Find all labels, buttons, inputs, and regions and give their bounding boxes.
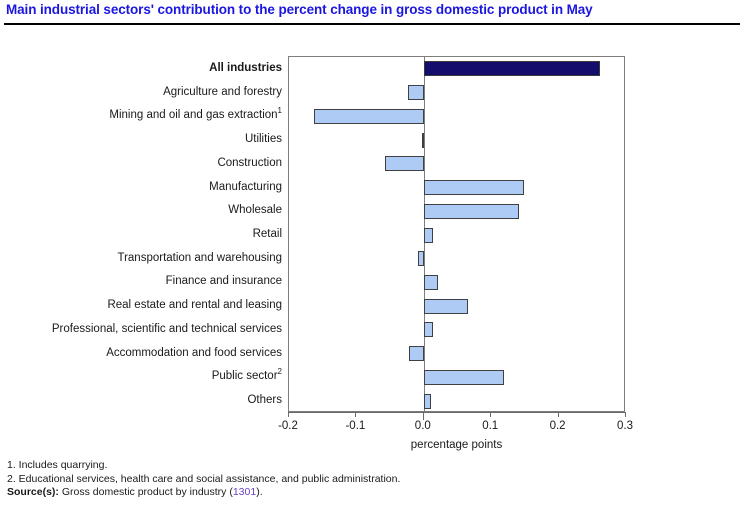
bar (408, 85, 424, 100)
x-axis-tick (558, 412, 559, 417)
source-label: Source(s): (7, 486, 59, 498)
x-axis-tick (355, 412, 356, 417)
source-suffix: ). (256, 486, 262, 498)
x-axis-line (288, 412, 625, 413)
category-label: Accommodation and food services (0, 347, 282, 359)
category-axis-labels: All industriesAgriculture and forestryMi… (0, 56, 282, 412)
category-label: Agriculture and forestry (0, 86, 282, 98)
bar (424, 61, 601, 76)
category-label: Professional, scientific and technical s… (0, 323, 282, 335)
x-axis-tick-label: 0.0 (401, 420, 445, 432)
x-axis-tick-label: 0.1 (468, 420, 512, 432)
category-label: Real estate and rental and leasing (0, 299, 282, 311)
bar (424, 370, 504, 385)
chart-figure: All industriesAgriculture and forestryMi… (0, 30, 744, 450)
x-axis-tick (625, 412, 626, 417)
bar (424, 275, 438, 290)
footnote-1: 1. Includes quarrying. (7, 459, 607, 473)
category-label: Wholesale (0, 204, 282, 216)
category-label: Construction (0, 157, 282, 169)
bar (424, 228, 433, 243)
bar (424, 394, 431, 409)
bar (424, 204, 519, 219)
category-label: All industries (0, 62, 282, 74)
bar (424, 299, 468, 314)
source-line: Source(s): Gross domestic product by ind… (7, 486, 607, 500)
title-divider (4, 23, 740, 25)
x-axis-tick (423, 412, 424, 420)
page-title: Main industrial sectors' contribution to… (6, 2, 738, 17)
x-axis-tick-label: 0.2 (536, 420, 580, 432)
x-axis-tick (288, 412, 289, 417)
footnotes: 1. Includes quarrying. 2. Educational se… (7, 459, 607, 500)
source-link[interactable]: 1301 (233, 486, 256, 498)
category-label: Transportation and warehousing (0, 252, 282, 264)
category-label: Public sector2 (0, 370, 282, 382)
category-label: Utilities (0, 133, 282, 145)
category-label: Others (0, 394, 282, 406)
bar (422, 133, 424, 148)
category-label: Mining and oil and gas extraction1 (0, 109, 282, 121)
category-label: Retail (0, 228, 282, 240)
bar (424, 180, 524, 195)
plot-area (288, 56, 625, 412)
footnote-2: 2. Educational services, health care and… (7, 473, 607, 487)
bar (418, 251, 424, 266)
x-axis-tick (490, 412, 491, 417)
bar (314, 109, 424, 124)
x-axis-tick-label: 0.3 (603, 420, 647, 432)
x-axis-tick-label: -0.1 (333, 420, 377, 432)
bar (424, 322, 433, 337)
bar (385, 156, 423, 171)
category-label: Manufacturing (0, 181, 282, 193)
category-label: Finance and insurance (0, 275, 282, 287)
bar (409, 346, 424, 361)
x-axis-tick-label: -0.2 (266, 420, 310, 432)
x-axis-title: percentage points (288, 439, 625, 451)
source-text: Gross domestic product by industry ( (59, 486, 233, 498)
